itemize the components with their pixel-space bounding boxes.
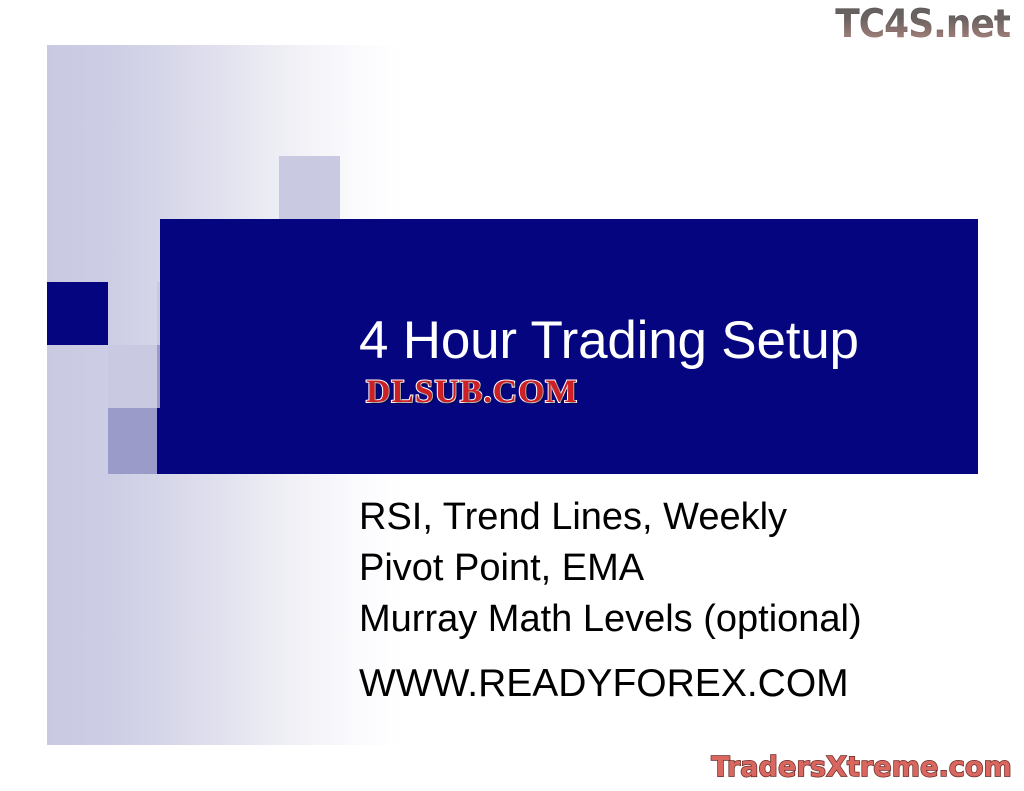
mosaic-square-mid-4 [108, 408, 157, 474]
subtitle-line-3: Murray Math Levels (optional) [359, 594, 862, 645]
dlsub-watermark: DLSUB.COM [366, 374, 578, 411]
mosaic-square-light-1 [279, 156, 340, 219]
tradersxtreme-watermark: TradersXtreme.com [711, 750, 1012, 783]
subtitle-line-1: RSI, Trend Lines, Weekly [359, 492, 862, 543]
mosaic-square-navy-accent [47, 282, 108, 345]
subtitle-line-2: Pivot Point, EMA [359, 543, 862, 594]
page-title: 4 Hour Trading Setup [359, 314, 859, 367]
navy-step-block-1 [157, 408, 218, 474]
website-url-line: WWW.READYFOREX.COM [359, 658, 862, 709]
tc4s-watermark: TC4S.net [835, 2, 1010, 47]
slide-canvas: 4 Hour Trading Setup DLSUB.COM RSI, Tren… [0, 0, 1024, 791]
mosaic-square-light-4 [108, 345, 157, 408]
subtitle-block: RSI, Trend Lines, Weekly Pivot Point, EM… [359, 492, 862, 709]
